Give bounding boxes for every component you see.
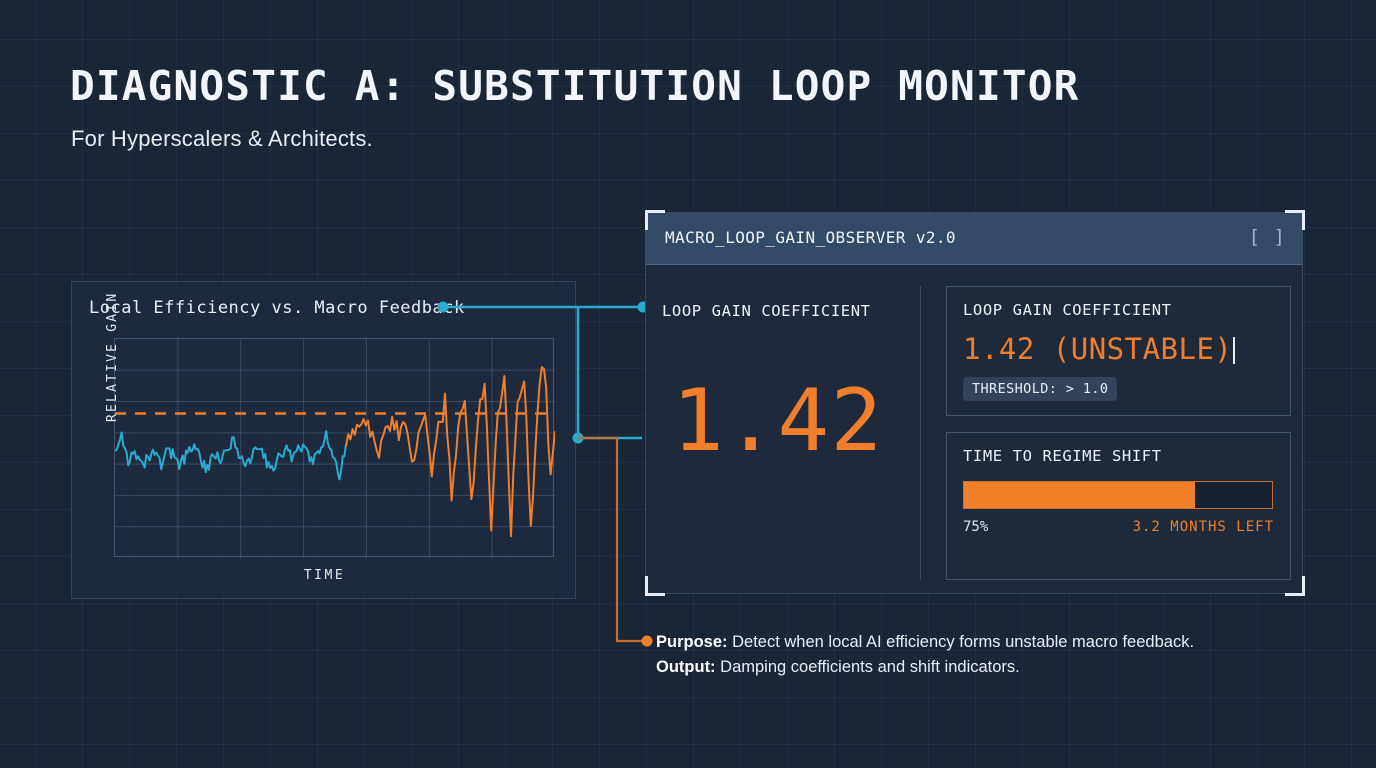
loop-gain-value-big: 1.42 xyxy=(672,371,883,471)
threshold-badge: THRESHOLD: > 1.0 xyxy=(963,377,1117,401)
regime-shift-progress-fill xyxy=(964,482,1195,508)
chart-plot-area xyxy=(114,338,554,557)
chart-title: Local Efficiency vs. Macro Feedback xyxy=(89,298,465,318)
panel-header-title: MACRO_LOOP_GAIN_OBSERVER v2.0 xyxy=(665,228,956,247)
card-loop-gain-coefficient: LOOP GAIN COEFFICIENT 1.42 (UNSTABLE) TH… xyxy=(946,286,1291,416)
corner-bracket-top-right xyxy=(1285,210,1305,230)
card-time-to-regime-shift: TIME TO REGIME SHIFT 75% 3.2 MONTHS LEFT xyxy=(946,432,1291,580)
corner-bracket-bottom-left xyxy=(645,576,665,596)
page-title: DIAGNOSTIC A: SUBSTITUTION LOOP MONITOR xyxy=(70,62,1079,110)
regime-shift-percent-label: 75% xyxy=(963,519,988,535)
footer-notes: Purpose: Detect when local AI efficiency… xyxy=(656,630,1356,680)
chart-x-axis-label: TIME xyxy=(72,568,577,583)
footer-purpose-text: Detect when local AI efficiency forms un… xyxy=(728,633,1195,651)
footer-output-line: Output: Damping coefficients and shift i… xyxy=(656,655,1356,680)
chart-svg xyxy=(115,339,555,558)
footer-purpose-line: Purpose: Detect when local AI efficiency… xyxy=(656,630,1356,655)
corner-bracket-bottom-right xyxy=(1285,576,1305,596)
corner-bracket-top-left xyxy=(645,210,665,230)
loop-gain-value-block: LOOP GAIN COEFFICIENT 1.42 xyxy=(648,286,921,580)
regime-shift-remaining-label: 3.2 MONTHS LEFT xyxy=(1133,519,1274,535)
series-line-stable xyxy=(115,431,346,479)
card-loop-gain-readout: 1.42 (UNSTABLE) xyxy=(963,332,1235,366)
loop-gain-value-label: LOOP GAIN COEFFICIENT xyxy=(662,302,871,320)
window-control-brackets[interactable]: [ ] xyxy=(1249,226,1286,248)
panel-header: MACRO_LOOP_GAIN_OBSERVER v2.0 [ ] xyxy=(646,213,1302,265)
card-time-label: TIME TO REGIME SHIFT xyxy=(963,447,1162,465)
card-loop-gain-readout-text: 1.42 (UNSTABLE) xyxy=(963,332,1232,366)
card-loop-gain-label: LOOP GAIN COEFFICIENT xyxy=(963,301,1172,319)
footer-output-key: Output: xyxy=(656,658,716,676)
console-panel: MACRO_LOOP_GAIN_OBSERVER v2.0 [ ] LOOP G… xyxy=(645,212,1303,594)
regime-shift-progress-bar[interactable] xyxy=(963,481,1273,509)
series-line-unstable xyxy=(346,367,555,536)
connector-dot-footer xyxy=(642,636,653,647)
text-cursor-caret xyxy=(1233,337,1235,364)
footer-output-text: Damping coefficients and shift indicator… xyxy=(716,658,1020,676)
page-subtitle: For Hyperscalers & Architects. xyxy=(71,126,373,152)
footer-purpose-key: Purpose: xyxy=(656,633,728,651)
chart-card: Local Efficiency vs. Macro Feedback RELA… xyxy=(71,281,576,599)
chart-plot-wrap: RELATIVE GAIN xyxy=(114,338,554,557)
